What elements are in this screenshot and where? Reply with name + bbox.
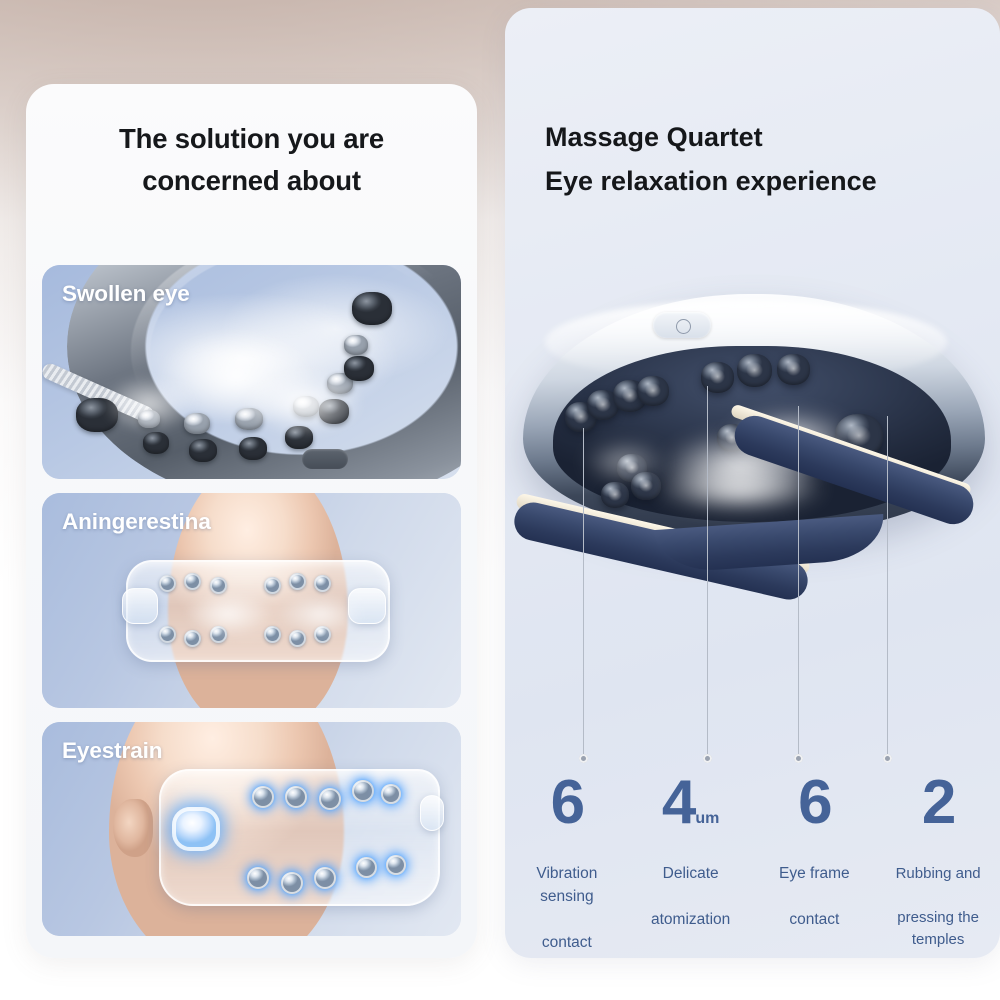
massage-node <box>701 362 734 393</box>
stat-number-group: 6 <box>505 776 629 829</box>
massage-node <box>159 575 176 592</box>
massage-node <box>319 399 349 424</box>
stat-number-group: 4um <box>629 776 753 829</box>
massage-node <box>737 354 772 387</box>
goggle-side-module <box>420 795 444 831</box>
right-panel-header: Massage Quartet Eye relaxation experienc… <box>505 8 1000 203</box>
stat-caption: Delicate atomization <box>629 840 753 932</box>
massage-node <box>235 408 263 430</box>
massage-node <box>210 626 227 643</box>
left-panel: The solution you are concerned about <box>26 84 477 958</box>
callout-leader-line <box>583 428 584 758</box>
symptom-card-aningerestina[interactable]: Aningerestina <box>42 493 461 707</box>
callout-dot <box>703 754 712 763</box>
right-title-line2: Eye relaxation experience <box>545 166 877 196</box>
massage-node <box>239 437 267 460</box>
stat-caption-line2: pressing the temples <box>897 909 979 948</box>
massage-node <box>281 872 303 894</box>
device-control-button <box>302 449 348 469</box>
left-panel-header: The solution you are concerned about <box>26 84 477 202</box>
product-hero-image <box>505 276 1000 706</box>
stat-delicate-atomization: 4um Delicate atomization <box>629 776 753 932</box>
stat-number-group: 2 <box>876 776 1000 829</box>
massage-node <box>352 780 374 802</box>
massage-node <box>138 410 160 428</box>
callout-leader-line <box>707 386 708 758</box>
stat-caption-line2: atomization <box>651 911 730 928</box>
symptom-card-label: Eyestrain <box>62 738 162 764</box>
left-title-line2: concerned about <box>142 165 361 196</box>
right-panel: Massage Quartet Eye relaxation experienc… <box>505 8 1000 958</box>
massage-node <box>637 376 669 406</box>
massage-node <box>285 786 307 808</box>
stat-caption: Rubbing and pressing the temples <box>876 840 1000 951</box>
massage-node <box>344 356 374 381</box>
product-infographic: The solution you are concerned about <box>0 0 1000 1000</box>
symptom-card-list: Swollen eye <box>42 265 461 936</box>
massage-node <box>189 439 217 462</box>
massage-node <box>352 292 392 325</box>
stat-caption-line1: Eye frame <box>779 865 850 882</box>
stat-number: 2 <box>922 776 954 829</box>
stat-caption: Vibration sensing contact <box>505 840 629 955</box>
left-title-line1: The solution you are <box>119 123 384 154</box>
massage-node <box>356 857 377 878</box>
callout-leader-line <box>798 406 799 758</box>
stat-number: 4 <box>662 776 694 829</box>
symptom-card-label: Aningerestina <box>62 509 211 535</box>
stat-number: 6 <box>551 776 583 829</box>
massage-node <box>314 575 331 592</box>
right-panel-title: Massage Quartet Eye relaxation experienc… <box>545 116 1000 203</box>
callout-dot <box>883 754 892 763</box>
callout-leader-line <box>887 416 888 758</box>
massage-node <box>293 396 319 417</box>
massage-node <box>184 573 201 590</box>
callout-dot <box>579 754 588 763</box>
massage-node <box>319 788 341 810</box>
left-panel-title: The solution you are concerned about <box>56 118 447 202</box>
stat-unit: um <box>695 810 719 828</box>
stat-caption-line2: contact <box>789 911 839 928</box>
stat-rubbing-temples: 2 Rubbing and pressing the temples <box>876 776 1000 951</box>
massage-node <box>252 786 274 808</box>
stat-eye-frame-contact: 6 Eye frame contact <box>753 776 877 932</box>
glowing-lens <box>172 807 220 851</box>
massage-node <box>386 855 406 875</box>
stat-caption-line1: Delicate <box>663 865 719 882</box>
massage-node <box>76 398 118 432</box>
massage-node <box>777 354 810 385</box>
stat-caption-line1: Rubbing and <box>896 865 981 882</box>
massage-node <box>210 577 227 594</box>
goggle-side-module <box>122 588 158 624</box>
symptom-card-swollen-eye[interactable]: Swollen eye <box>42 265 461 479</box>
right-title-line1: Massage Quartet <box>545 122 763 152</box>
massage-node <box>264 577 281 594</box>
power-button-icon[interactable] <box>653 312 711 338</box>
callout-dot <box>794 754 803 763</box>
massage-node <box>289 573 306 590</box>
massage-node <box>344 335 368 355</box>
stat-number-group: 6 <box>753 776 877 829</box>
symptom-card-label: Swollen eye <box>62 281 190 307</box>
mannequin-ear <box>113 799 153 857</box>
goggle-side-module <box>348 588 386 624</box>
massage-node <box>285 426 313 449</box>
massage-node <box>143 432 169 454</box>
massage-node <box>184 413 210 434</box>
feature-stats-row: 6 Vibration sensing contact 4um Delicate… <box>505 776 1000 916</box>
stat-caption-line1: Vibration sensing <box>536 865 597 905</box>
stat-caption: Eye frame contact <box>753 840 877 932</box>
stat-caption-line2: contact <box>542 934 592 951</box>
stat-number: 6 <box>798 776 830 829</box>
stat-vibration-sensing: 6 Vibration sensing contact <box>505 776 629 955</box>
symptom-card-eyestrain[interactable]: Eyestrain <box>42 722 461 936</box>
